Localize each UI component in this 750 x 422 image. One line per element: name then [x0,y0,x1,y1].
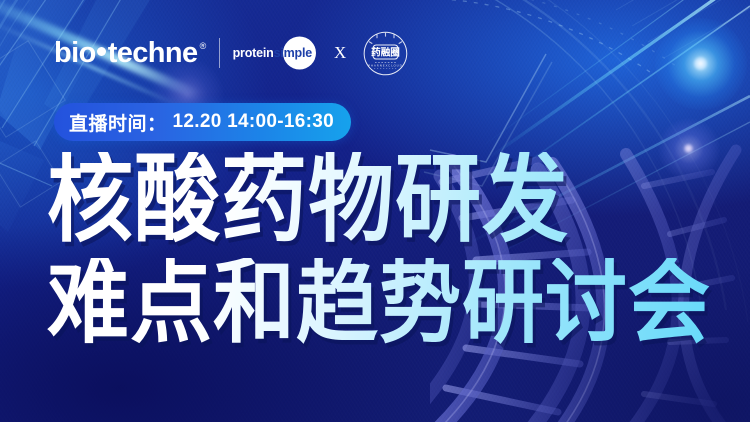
biotechne-logo-part2: techne [108,39,198,68]
partner-logo: 药融圈 PHARNEXCLOUD [362,30,409,77]
live-time-label: 直播时间： [69,109,167,136]
biotechne-logo: biotechne® [54,39,206,68]
proteinsimple-suffix: simple [274,46,312,60]
headline-line-2: 难点和趋势研讨会 [47,258,727,350]
logo-separator-x: X [334,43,346,63]
headline: 核酸药物研发 难点和趋势研讨会 [47,152,727,340]
registered-mark-icon: ® [200,42,206,51]
live-time-badge: 直播时间： 12.20 14:00-16:30 [54,103,351,141]
headline-line-1: 核酸药物研发 [47,152,727,248]
svg-text:药融圈: 药融圈 [371,46,400,58]
dot-separator-icon [97,47,106,56]
proteinsimple-prefix: protein [233,46,274,60]
svg-text:PHARNEXCLOUD: PHARNEXCLOUD [368,63,403,67]
webinar-banner: biotechne® proteinsimple X [0,0,750,422]
logo-row: biotechne® proteinsimple X [54,30,409,76]
biotechne-logo-part1: bio [54,39,96,68]
logo-divider [219,38,220,68]
banner-content: biotechne® proteinsimple X [0,0,750,422]
live-time-value: 12.20 14:00-16:30 [173,111,334,133]
proteinsimple-logo: proteinsimple [233,36,312,70]
